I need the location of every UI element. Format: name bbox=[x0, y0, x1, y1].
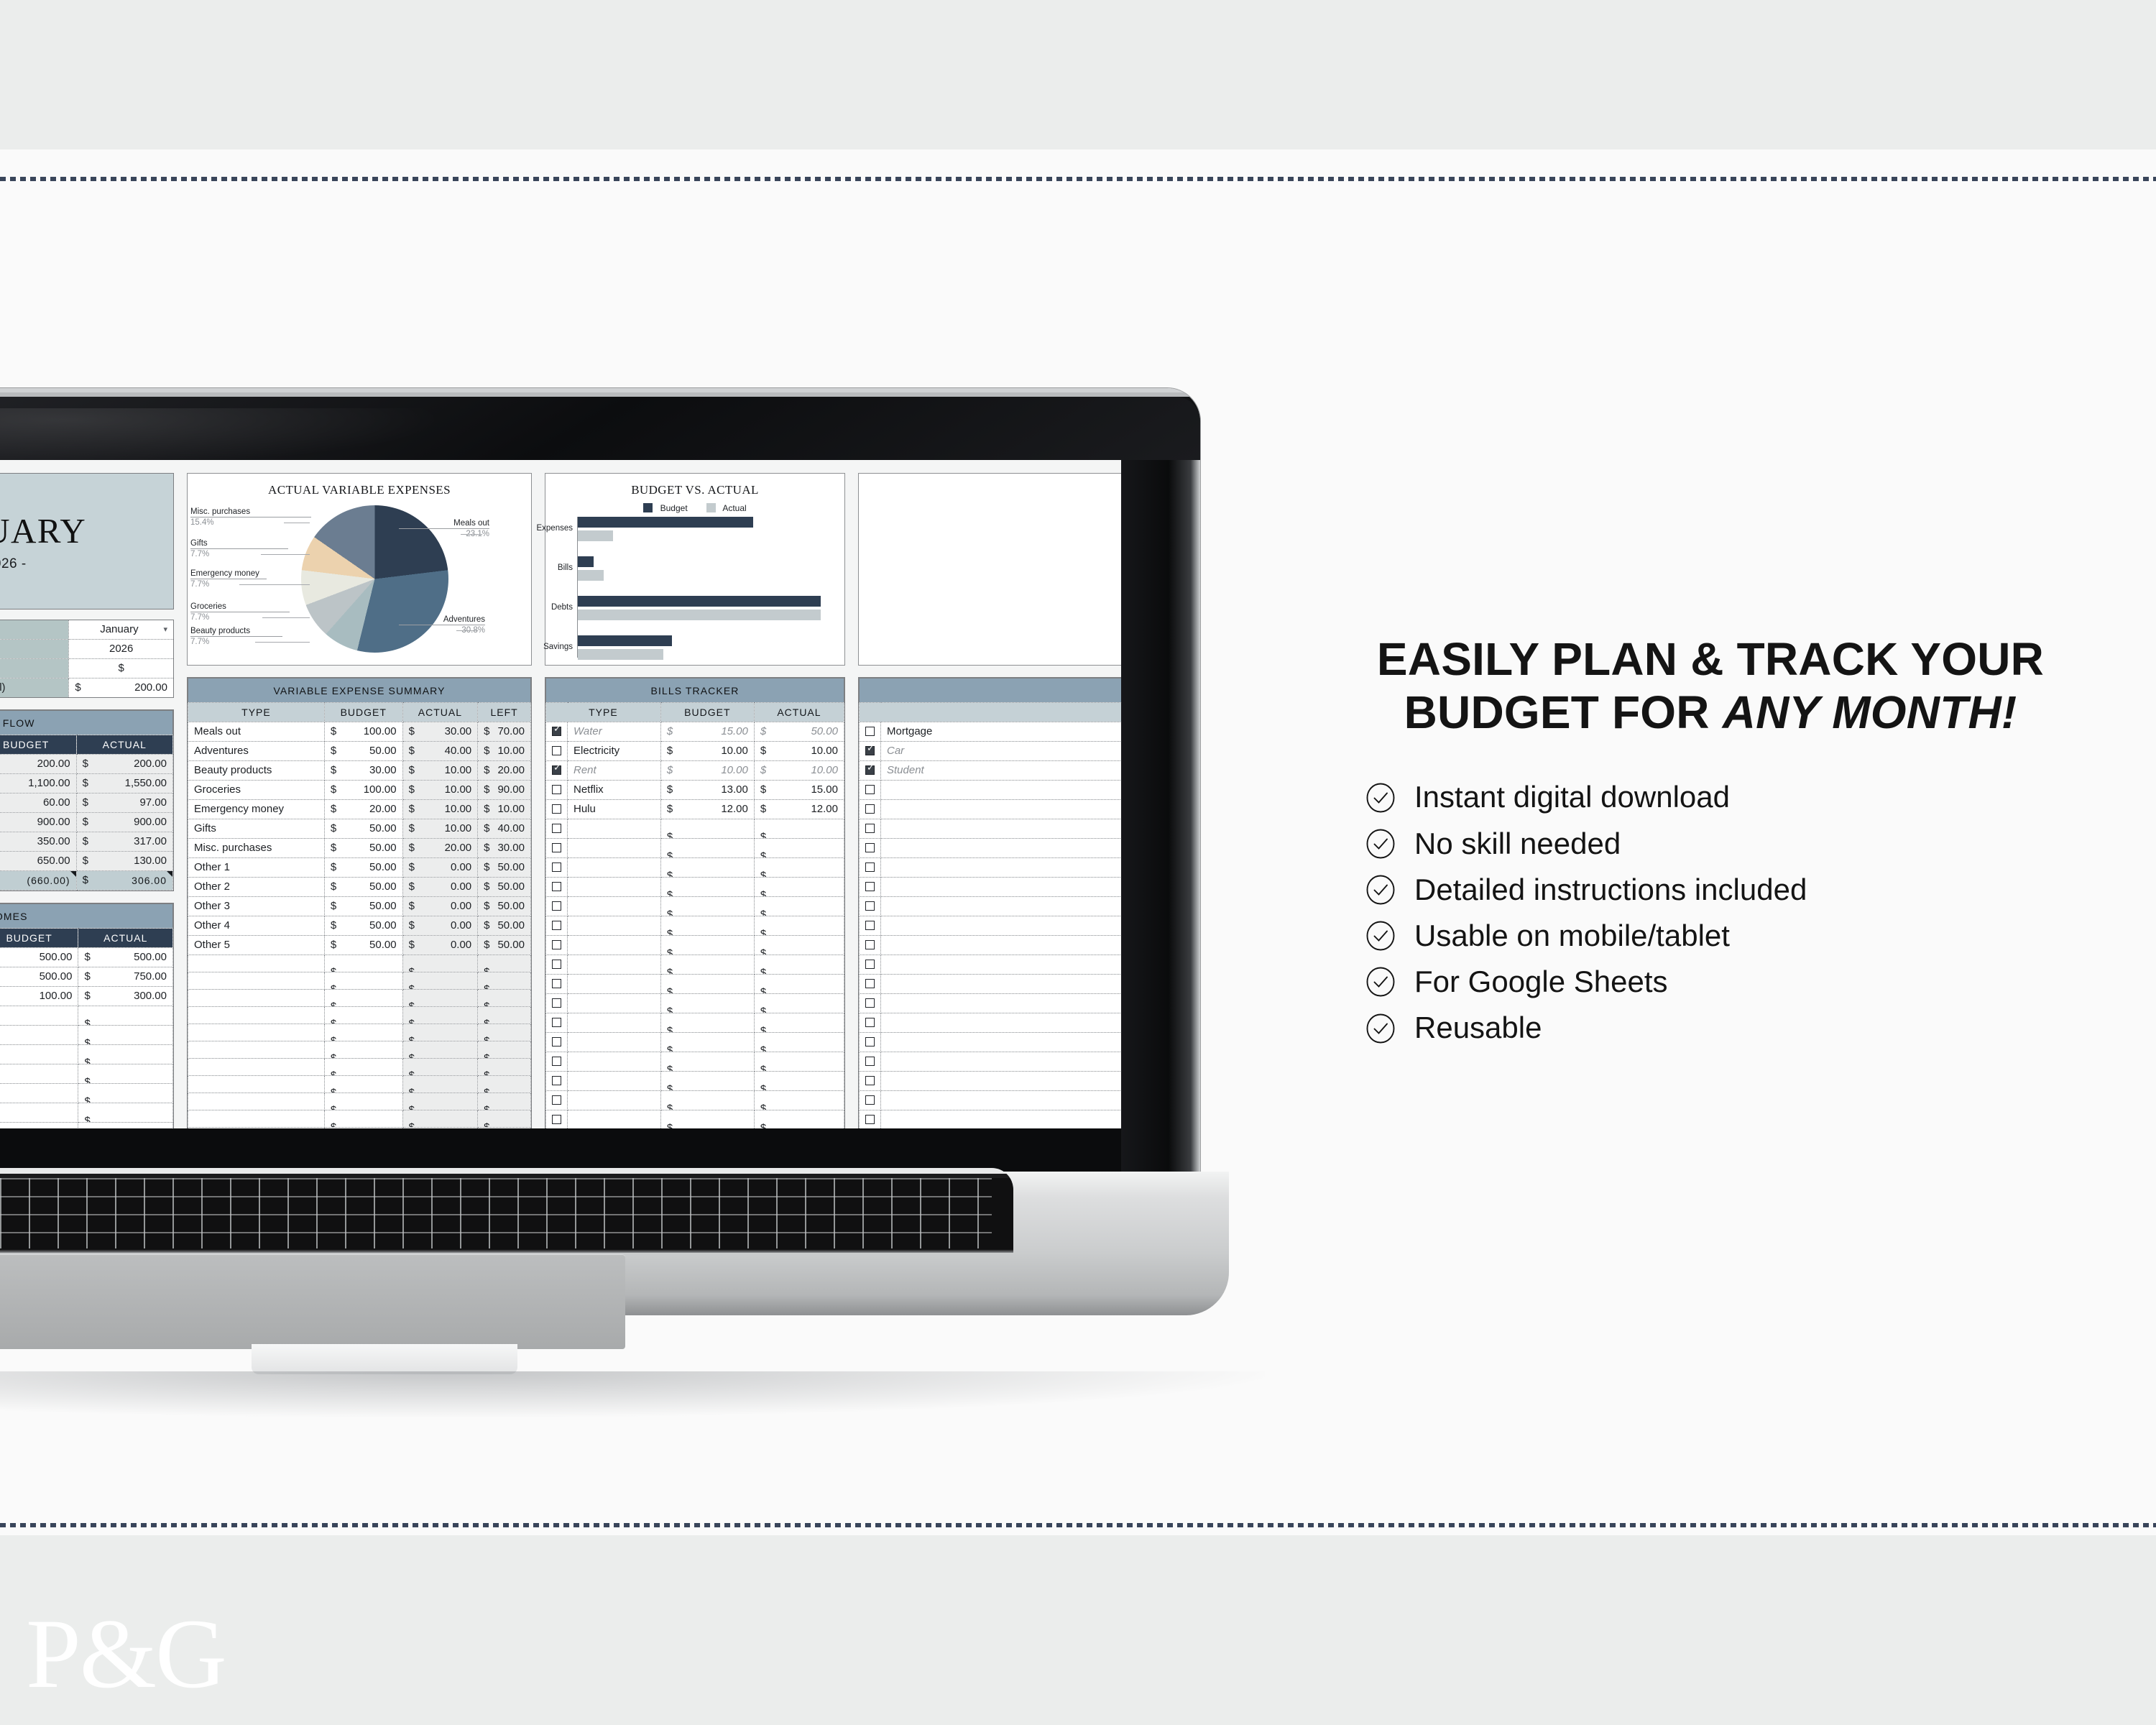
money-cell[interactable]: $0.00 bbox=[402, 916, 478, 936]
paid-checkbox-cell[interactable] bbox=[860, 1110, 881, 1129]
money-cell[interactable]: $0.00 bbox=[402, 858, 478, 878]
checkbox-icon[interactable] bbox=[865, 901, 875, 911]
setup-value-month[interactable]: January ▾ bbox=[69, 620, 174, 640]
table-row[interactable]: – Debts $900.00$900.00 bbox=[0, 813, 173, 832]
paid-checkbox-cell[interactable] bbox=[860, 722, 881, 742]
table-row[interactable]: Mortgage bbox=[860, 722, 1122, 742]
money-cell[interactable]: $20.00 bbox=[402, 839, 478, 858]
type-cell[interactable] bbox=[568, 916, 661, 936]
checkbox-icon[interactable] bbox=[552, 862, 561, 872]
money-cell[interactable]: $ bbox=[402, 1076, 478, 1093]
type-cell[interactable]: Adventures bbox=[188, 742, 325, 761]
checkbox-icon[interactable] bbox=[552, 1076, 561, 1085]
money-cell[interactable]: $ bbox=[0, 1123, 78, 1129]
money-cell[interactable]: $ bbox=[660, 955, 754, 975]
paid-checkbox-cell[interactable] bbox=[546, 781, 568, 800]
paid-checkbox-cell[interactable] bbox=[860, 916, 881, 936]
table-row[interactable]: 3. Paycheck #3 $100.00$300.00 bbox=[0, 987, 173, 1006]
table-row[interactable]: Misc. purchases $50.00$20.00$30.00 bbox=[188, 839, 531, 858]
table-row[interactable]: $$ bbox=[546, 1091, 844, 1110]
table-row[interactable] bbox=[860, 878, 1122, 897]
type-cell[interactable] bbox=[881, 878, 1122, 897]
money-cell[interactable]: $ bbox=[754, 897, 844, 916]
checkbox-icon[interactable] bbox=[865, 1076, 875, 1085]
checkbox-icon[interactable] bbox=[865, 785, 875, 794]
paid-checkbox-cell[interactable] bbox=[860, 975, 881, 994]
type-cell[interactable] bbox=[881, 1072, 1122, 1091]
money-cell[interactable]: $ bbox=[78, 1064, 173, 1084]
money-cell[interactable]: $10.00 bbox=[478, 742, 531, 761]
money-cell[interactable]: $ bbox=[754, 955, 844, 975]
table-row[interactable]: $$$ bbox=[188, 1041, 531, 1059]
checkbox-icon[interactable] bbox=[552, 940, 561, 949]
checkbox-icon[interactable] bbox=[552, 979, 561, 988]
checkbox-icon[interactable] bbox=[865, 921, 875, 930]
type-cell[interactable]: Meals out bbox=[188, 722, 325, 742]
table-row[interactable]: $$$ bbox=[188, 1093, 531, 1110]
type-cell[interactable]: Groceries bbox=[188, 781, 325, 800]
setup-value-currency[interactable]: $ bbox=[69, 659, 174, 678]
paid-checkbox-cell[interactable] bbox=[546, 994, 568, 1013]
money-cell[interactable]: $ bbox=[754, 878, 844, 897]
type-cell[interactable] bbox=[188, 972, 325, 990]
table-row[interactable]: Currency $ bbox=[0, 659, 174, 678]
table-row[interactable] bbox=[860, 839, 1122, 858]
money-cell[interactable]: $ bbox=[660, 1013, 754, 1033]
type-cell[interactable] bbox=[881, 955, 1122, 975]
paid-checkbox-cell[interactable] bbox=[546, 1072, 568, 1091]
money-cell[interactable]: $ bbox=[402, 1041, 478, 1059]
money-cell[interactable]: $100.00 bbox=[324, 781, 402, 800]
type-cell[interactable] bbox=[568, 839, 661, 858]
table-row[interactable]: $$ bbox=[546, 916, 844, 936]
type-cell[interactable] bbox=[881, 1052, 1122, 1072]
money-cell[interactable]: $100.00 bbox=[0, 987, 78, 1006]
checkbox-icon[interactable] bbox=[552, 921, 561, 930]
table-row[interactable]: Year 2026 bbox=[0, 640, 174, 659]
checkbox-icon[interactable] bbox=[865, 882, 875, 891]
type-cell[interactable] bbox=[188, 1024, 325, 1041]
type-cell[interactable] bbox=[881, 1091, 1122, 1110]
paid-checkbox-cell[interactable] bbox=[546, 1091, 568, 1110]
checkbox-icon[interactable] bbox=[552, 998, 561, 1008]
money-cell[interactable]: $ bbox=[754, 1052, 844, 1072]
type-cell[interactable] bbox=[188, 1076, 325, 1093]
money-cell[interactable]: $50.00 bbox=[324, 819, 402, 839]
table-row[interactable]: $$$ bbox=[188, 1007, 531, 1024]
money-cell[interactable]: $ bbox=[754, 1110, 844, 1129]
table-row[interactable] bbox=[860, 819, 1122, 839]
type-cell[interactable] bbox=[568, 994, 661, 1013]
money-cell[interactable]: $10.00 bbox=[402, 819, 478, 839]
money-cell[interactable]: $ bbox=[660, 1091, 754, 1110]
paid-checkbox-cell[interactable] bbox=[860, 761, 881, 781]
paid-checkbox-cell[interactable] bbox=[546, 955, 568, 975]
type-cell[interactable] bbox=[881, 897, 1122, 916]
money-cell[interactable]: $50.00 bbox=[478, 858, 531, 878]
money-cell[interactable]: $ bbox=[402, 955, 478, 972]
money-cell[interactable]: $ bbox=[754, 819, 844, 839]
type-cell[interactable] bbox=[188, 955, 325, 972]
type-cell[interactable]: Emergency money bbox=[188, 800, 325, 819]
table-row[interactable]: Other 2 $50.00$0.00$50.00 bbox=[188, 878, 531, 897]
money-cell[interactable]: $20.00 bbox=[478, 761, 531, 781]
money-cell[interactable]: $12.00 bbox=[660, 800, 754, 819]
money-cell[interactable]: $ bbox=[660, 819, 754, 839]
money-cell[interactable]: $50.00 bbox=[324, 897, 402, 916]
money-cell[interactable]: $10.00 bbox=[754, 761, 844, 781]
money-cell[interactable]: $ bbox=[754, 839, 844, 858]
money-cell[interactable]: $ bbox=[754, 1091, 844, 1110]
table-row[interactable]: $$ bbox=[546, 994, 844, 1013]
table-row[interactable]: $$ bbox=[546, 936, 844, 955]
table-row[interactable]: + Start amount $200.00$200.00 bbox=[0, 755, 173, 774]
table-row[interactable]: 8. $$ bbox=[0, 1084, 173, 1103]
paid-checkbox-cell[interactable] bbox=[546, 975, 568, 994]
checkbox-icon[interactable] bbox=[552, 901, 561, 911]
table-row[interactable]: $$ bbox=[546, 878, 844, 897]
money-cell[interactable]: $ bbox=[0, 1064, 78, 1084]
type-cell[interactable] bbox=[881, 800, 1122, 819]
money-cell[interactable]: $300.00 bbox=[78, 987, 173, 1006]
table-row[interactable]: Groceries $100.00$10.00$90.00 bbox=[188, 781, 531, 800]
type-cell[interactable] bbox=[568, 1033, 661, 1052]
checkbox-icon[interactable] bbox=[865, 1057, 875, 1066]
paid-checkbox-cell[interactable] bbox=[860, 897, 881, 916]
money-cell[interactable]: $50.00 bbox=[324, 839, 402, 858]
table-row[interactable] bbox=[860, 955, 1122, 975]
money-cell[interactable]: $ bbox=[478, 1007, 531, 1024]
table-row[interactable]: Electricity $10.00$10.00 bbox=[546, 742, 844, 761]
money-cell[interactable]: $ bbox=[478, 990, 531, 1007]
type-cell[interactable]: Beauty products bbox=[188, 761, 325, 781]
type-cell[interactable] bbox=[881, 781, 1122, 800]
type-cell[interactable] bbox=[568, 1110, 661, 1129]
money-cell[interactable]: $10.00 bbox=[660, 742, 754, 761]
money-cell[interactable]: $750.00 bbox=[78, 967, 173, 987]
type-cell[interactable] bbox=[881, 1013, 1122, 1033]
money-cell[interactable]: $ bbox=[0, 1084, 78, 1103]
table-row[interactable] bbox=[860, 781, 1122, 800]
money-cell[interactable]: $40.00 bbox=[402, 742, 478, 761]
type-cell[interactable]: Car bbox=[881, 742, 1122, 761]
table-row[interactable]: $$ bbox=[546, 858, 844, 878]
money-cell[interactable]: $30.00 bbox=[324, 761, 402, 781]
type-cell[interactable]: Other 1 bbox=[188, 858, 325, 878]
table-row[interactable]: $$ bbox=[546, 1033, 844, 1052]
table-row[interactable]: 10. $$ bbox=[0, 1123, 173, 1129]
money-cell[interactable]: $15.00 bbox=[660, 722, 754, 742]
table-row[interactable] bbox=[860, 916, 1122, 936]
table-row[interactable]: 7. $$ bbox=[0, 1064, 173, 1084]
money-cell[interactable]: $50.00 bbox=[478, 897, 531, 916]
table-row[interactable]: Emergency money $20.00$10.00$10.00 bbox=[188, 800, 531, 819]
type-cell[interactable]: Water bbox=[568, 722, 661, 742]
money-cell[interactable]: $ bbox=[660, 936, 754, 955]
money-cell[interactable]: $ bbox=[78, 1006, 173, 1026]
paid-checkbox-cell[interactable] bbox=[546, 936, 568, 955]
money-cell[interactable]: $ bbox=[324, 1093, 402, 1110]
paid-checkbox-cell[interactable] bbox=[546, 1052, 568, 1072]
paid-checkbox-cell[interactable] bbox=[860, 819, 881, 839]
money-cell[interactable]: $ bbox=[324, 990, 402, 1007]
money-cell[interactable]: $ bbox=[660, 1110, 754, 1129]
table-row[interactable]: Beauty products $30.00$10.00$20.00 bbox=[188, 761, 531, 781]
table-row[interactable]: Student bbox=[860, 761, 1122, 781]
table-row[interactable] bbox=[860, 975, 1122, 994]
money-cell[interactable]: $ bbox=[478, 1110, 531, 1128]
money-cell[interactable]: $ bbox=[660, 878, 754, 897]
money-cell[interactable]: $10.00 bbox=[754, 742, 844, 761]
money-cell[interactable]: $ bbox=[660, 897, 754, 916]
money-cell[interactable]: $10.00 bbox=[660, 761, 754, 781]
type-cell[interactable] bbox=[188, 1093, 325, 1110]
type-cell[interactable] bbox=[881, 1110, 1122, 1129]
table-row[interactable]: $$$ bbox=[188, 1110, 531, 1128]
type-cell[interactable] bbox=[188, 1110, 325, 1128]
type-cell[interactable] bbox=[568, 878, 661, 897]
money-cell[interactable]: $ bbox=[324, 1041, 402, 1059]
money-cell[interactable]: $ bbox=[660, 994, 754, 1013]
paid-checkbox-cell[interactable] bbox=[546, 916, 568, 936]
table-row[interactable]: $$$ bbox=[188, 1024, 531, 1041]
table-row[interactable]: 1. Paycheck #1 $500.00$500.00 bbox=[0, 948, 173, 967]
table-row[interactable]: $$$ bbox=[188, 1059, 531, 1076]
table-row[interactable]: 6. $$ bbox=[0, 1045, 173, 1064]
table-row[interactable]: $$ bbox=[546, 975, 844, 994]
money-cell[interactable]: $ bbox=[754, 936, 844, 955]
money-cell[interactable]: $900.00 bbox=[0, 813, 76, 832]
paid-checkbox-cell[interactable] bbox=[860, 742, 881, 761]
table-row[interactable]: Adventures $50.00$40.00$10.00 bbox=[188, 742, 531, 761]
table-row[interactable]: Netflix $13.00$15.00 bbox=[546, 781, 844, 800]
paid-checkbox-cell[interactable] bbox=[860, 1091, 881, 1110]
table-row[interactable]: $$ bbox=[546, 839, 844, 858]
paid-checkbox-cell[interactable] bbox=[860, 878, 881, 897]
money-cell[interactable]: $500.00 bbox=[0, 948, 78, 967]
paid-checkbox-cell[interactable] bbox=[546, 1033, 568, 1052]
money-cell[interactable]: $50.00 bbox=[324, 742, 402, 761]
money-cell[interactable]: $ bbox=[324, 955, 402, 972]
money-cell[interactable]: $ bbox=[402, 1059, 478, 1076]
money-cell[interactable]: $500.00 bbox=[78, 948, 173, 967]
checkbox-icon[interactable] bbox=[865, 843, 875, 852]
money-cell[interactable]: $ bbox=[754, 916, 844, 936]
checkbox-icon[interactable] bbox=[552, 882, 561, 891]
money-cell[interactable]: $ bbox=[660, 1052, 754, 1072]
table-row[interactable]: $$$ bbox=[188, 990, 531, 1007]
paid-checkbox-cell[interactable] bbox=[546, 1110, 568, 1129]
table-row[interactable]: $$ bbox=[546, 1052, 844, 1072]
money-cell[interactable]: $ bbox=[78, 1084, 173, 1103]
money-cell[interactable]: $15.00 bbox=[754, 781, 844, 800]
money-cell[interactable]: $500.00 bbox=[0, 967, 78, 987]
money-cell[interactable]: $ bbox=[754, 1072, 844, 1091]
money-cell[interactable]: $50.00 bbox=[324, 878, 402, 897]
checkbox-icon[interactable] bbox=[865, 960, 875, 969]
checkbox-icon[interactable] bbox=[552, 785, 561, 794]
money-cell[interactable]: $ bbox=[324, 1076, 402, 1093]
type-cell[interactable] bbox=[568, 858, 661, 878]
money-cell[interactable]: $ bbox=[78, 1103, 173, 1123]
money-cell[interactable]: $ bbox=[402, 990, 478, 1007]
money-cell[interactable]: $97.00 bbox=[76, 793, 172, 813]
checkbox-icon[interactable] bbox=[552, 727, 561, 736]
table-row[interactable]: $$ bbox=[546, 1072, 844, 1091]
money-cell[interactable]: $317.00 bbox=[76, 832, 172, 852]
money-cell[interactable]: $12.00 bbox=[754, 800, 844, 819]
paid-checkbox-cell[interactable] bbox=[546, 1013, 568, 1033]
money-cell[interactable]: $20.00 bbox=[324, 800, 402, 819]
money-cell[interactable]: $ bbox=[660, 1033, 754, 1052]
money-cell[interactable]: $ bbox=[660, 839, 754, 858]
type-cell[interactable]: Gifts bbox=[188, 819, 325, 839]
paid-checkbox-cell[interactable] bbox=[860, 781, 881, 800]
table-row[interactable]: 9. $$ bbox=[0, 1103, 173, 1123]
money-cell[interactable]: $0.00 bbox=[402, 878, 478, 897]
table-row[interactable] bbox=[860, 1072, 1122, 1091]
checkbox-icon[interactable] bbox=[865, 1037, 875, 1046]
table-row[interactable]: Meals out $100.00$30.00$70.00 bbox=[188, 722, 531, 742]
money-cell[interactable]: $ bbox=[402, 1007, 478, 1024]
checkbox-icon[interactable] bbox=[552, 804, 561, 814]
money-cell[interactable]: $ bbox=[754, 994, 844, 1013]
type-cell[interactable] bbox=[568, 955, 661, 975]
type-cell[interactable] bbox=[881, 819, 1122, 839]
table-row[interactable]: – Bills $60.00$97.00 bbox=[0, 793, 173, 813]
money-cell[interactable]: $ bbox=[0, 1045, 78, 1064]
money-cell[interactable]: $50.00 bbox=[324, 916, 402, 936]
money-cell[interactable]: $ bbox=[78, 1045, 173, 1064]
type-cell[interactable]: Other 4 bbox=[188, 916, 325, 936]
money-cell[interactable]: $200.00 bbox=[76, 755, 172, 774]
table-row[interactable]: $$ bbox=[546, 819, 844, 839]
table-row[interactable]: Other 3 $50.00$0.00$50.00 bbox=[188, 897, 531, 916]
money-cell[interactable]: $ bbox=[78, 1026, 173, 1045]
checkbox-icon[interactable] bbox=[865, 1095, 875, 1105]
money-cell[interactable]: $10.00 bbox=[478, 800, 531, 819]
money-cell[interactable]: $10.00 bbox=[402, 781, 478, 800]
money-cell[interactable]: $60.00 bbox=[0, 793, 76, 813]
money-cell[interactable]: $30.00 bbox=[402, 722, 478, 742]
table-row[interactable]: – Savings $350.00$317.00 bbox=[0, 832, 173, 852]
setup-value-year[interactable]: 2026 bbox=[69, 640, 174, 659]
money-cell[interactable]: $ bbox=[0, 1103, 78, 1123]
checkbox-icon[interactable] bbox=[865, 979, 875, 988]
type-cell[interactable]: Other 2 bbox=[188, 878, 325, 897]
money-cell[interactable]: $90.00 bbox=[478, 781, 531, 800]
money-cell[interactable]: $ bbox=[402, 972, 478, 990]
money-cell[interactable]: $ bbox=[478, 1093, 531, 1110]
money-cell[interactable]: $ bbox=[754, 1033, 844, 1052]
checkbox-icon[interactable] bbox=[865, 998, 875, 1008]
money-cell[interactable]: $ bbox=[402, 1110, 478, 1128]
money-cell[interactable]: $0.00 bbox=[402, 897, 478, 916]
type-cell[interactable] bbox=[188, 1059, 325, 1076]
table-row[interactable]: $$ bbox=[546, 955, 844, 975]
type-cell[interactable] bbox=[568, 975, 661, 994]
type-cell[interactable] bbox=[881, 916, 1122, 936]
type-cell[interactable]: Hulu bbox=[568, 800, 661, 819]
type-cell[interactable] bbox=[881, 994, 1122, 1013]
type-cell[interactable] bbox=[568, 1072, 661, 1091]
money-cell[interactable]: $ bbox=[660, 1072, 754, 1091]
paid-checkbox-cell[interactable] bbox=[860, 1013, 881, 1033]
table-row[interactable]: + Incomes $1,100.00$1,550.00 bbox=[0, 774, 173, 793]
checkbox-icon[interactable] bbox=[552, 1037, 561, 1046]
checkbox-icon[interactable] bbox=[552, 824, 561, 833]
type-cell[interactable] bbox=[568, 936, 661, 955]
money-cell[interactable]: $650.00 bbox=[0, 852, 76, 871]
paid-checkbox-cell[interactable] bbox=[546, 800, 568, 819]
checkbox-icon[interactable] bbox=[865, 940, 875, 949]
checkbox-icon[interactable] bbox=[865, 1018, 875, 1027]
paid-checkbox-cell[interactable] bbox=[546, 819, 568, 839]
money-cell[interactable]: $ bbox=[78, 1123, 173, 1129]
paid-checkbox-cell[interactable] bbox=[546, 722, 568, 742]
type-cell[interactable] bbox=[568, 1091, 661, 1110]
table-row[interactable]: Other 1 $50.00$0.00$50.00 bbox=[188, 858, 531, 878]
money-cell[interactable]: $ bbox=[324, 1007, 402, 1024]
money-cell[interactable]: $13.00 bbox=[660, 781, 754, 800]
table-row[interactable]: 5. $$ bbox=[0, 1026, 173, 1045]
money-cell[interactable]: $50.00 bbox=[478, 916, 531, 936]
type-cell[interactable]: Rent bbox=[568, 761, 661, 781]
type-cell[interactable] bbox=[568, 1052, 661, 1072]
paid-checkbox-cell[interactable] bbox=[546, 742, 568, 761]
type-cell[interactable] bbox=[881, 936, 1122, 955]
money-cell[interactable]: $10.00 bbox=[402, 761, 478, 781]
money-cell[interactable]: $100.00 bbox=[324, 722, 402, 742]
money-cell[interactable]: $ bbox=[402, 1093, 478, 1110]
money-cell[interactable]: $200.00 bbox=[0, 755, 76, 774]
type-cell[interactable] bbox=[881, 975, 1122, 994]
paid-checkbox-cell[interactable] bbox=[860, 1072, 881, 1091]
checkbox-icon[interactable] bbox=[865, 746, 875, 755]
money-cell[interactable]: $ bbox=[324, 1024, 402, 1041]
paid-checkbox-cell[interactable] bbox=[546, 761, 568, 781]
money-cell[interactable]: $350.00 bbox=[0, 832, 76, 852]
money-cell[interactable]: $50.00 bbox=[478, 878, 531, 897]
table-row[interactable] bbox=[860, 897, 1122, 916]
type-cell[interactable]: Electricity bbox=[568, 742, 661, 761]
checkbox-icon[interactable] bbox=[552, 746, 561, 755]
paid-checkbox-cell[interactable] bbox=[546, 878, 568, 897]
table-row[interactable]: Hulu $12.00$12.00 bbox=[546, 800, 844, 819]
money-cell[interactable]: $ bbox=[754, 975, 844, 994]
type-cell[interactable]: Student bbox=[881, 761, 1122, 781]
money-cell[interactable]: $50.00 bbox=[754, 722, 844, 742]
table-row[interactable]: 4. $$ bbox=[0, 1006, 173, 1026]
money-cell[interactable]: $50.00 bbox=[324, 858, 402, 878]
type-cell[interactable] bbox=[568, 819, 661, 839]
paid-checkbox-cell[interactable] bbox=[860, 1033, 881, 1052]
type-cell[interactable] bbox=[568, 897, 661, 916]
money-cell[interactable]: $ bbox=[0, 1006, 78, 1026]
type-cell[interactable]: Netflix bbox=[568, 781, 661, 800]
money-cell[interactable]: $10.00 bbox=[402, 800, 478, 819]
type-cell[interactable]: Mortgage bbox=[881, 722, 1122, 742]
checkbox-icon[interactable] bbox=[865, 862, 875, 872]
money-cell[interactable]: $ bbox=[478, 972, 531, 990]
table-row[interactable] bbox=[860, 994, 1122, 1013]
checkbox-icon[interactable] bbox=[552, 960, 561, 969]
money-cell[interactable]: $130.00 bbox=[76, 852, 172, 871]
checkbox-icon[interactable] bbox=[865, 804, 875, 814]
checkbox-icon[interactable] bbox=[552, 843, 561, 852]
money-cell[interactable]: $ bbox=[324, 1059, 402, 1076]
paid-checkbox-cell[interactable] bbox=[860, 994, 881, 1013]
